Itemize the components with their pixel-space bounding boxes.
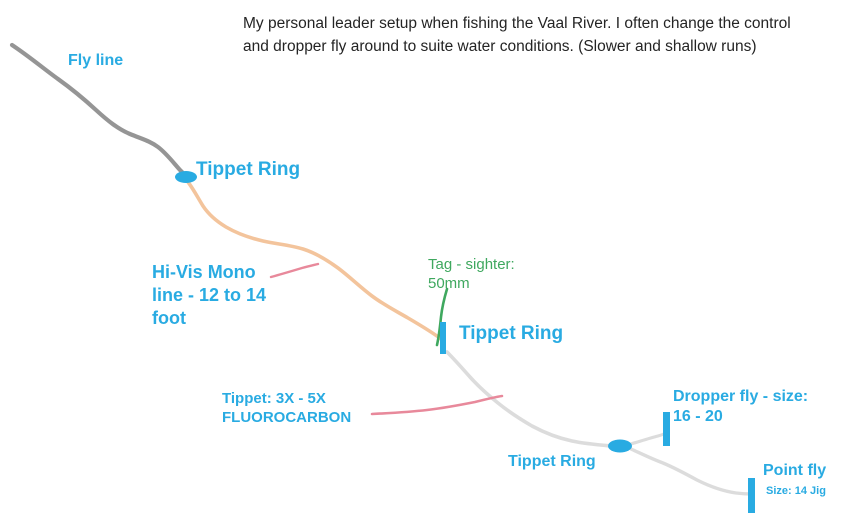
tippet-ring-1-label: Tippet Ring xyxy=(196,158,300,182)
tippet-ring-2-label: Tippet Ring xyxy=(459,322,563,346)
fluorocarbon-pointer-line xyxy=(372,396,502,414)
hi-vis-mono-label: Hi-Vis Mono line - 12 to 14 foot xyxy=(152,261,266,330)
fly-line-label: Fly line xyxy=(68,51,123,71)
hi-vis-pointer-line xyxy=(271,264,318,277)
fluorocarbon-tippet-label: Tippet: 3X - 5X FLUOROCARBON xyxy=(222,389,351,427)
tag-sighter-label: Tag - sighter: 50mm xyxy=(428,255,515,293)
dropper-fly-marker xyxy=(663,412,670,446)
point-fly-size-label: Size: 14 Jig xyxy=(766,484,826,498)
point-fly-label: Point fly xyxy=(763,461,826,481)
dropper-fly-label: Dropper fly - size: 16 - 20 xyxy=(673,387,808,428)
fluorocarbon-tippet-path xyxy=(447,352,612,446)
description-text: My personal leader setup when fishing th… xyxy=(243,12,803,59)
dropper-branch-path xyxy=(631,433,666,444)
tippet-ring-1-marker xyxy=(175,171,197,183)
tippet-ring-3-label: Tippet Ring xyxy=(508,452,596,472)
diagram-canvas: My personal leader setup when fishing th… xyxy=(0,0,844,525)
point-fly-marker xyxy=(748,478,755,513)
tippet-ring-2-marker xyxy=(440,322,446,354)
tippet-ring-3-marker xyxy=(608,440,632,453)
point-section-path xyxy=(631,449,752,494)
leader-setup-illustration xyxy=(0,0,844,525)
